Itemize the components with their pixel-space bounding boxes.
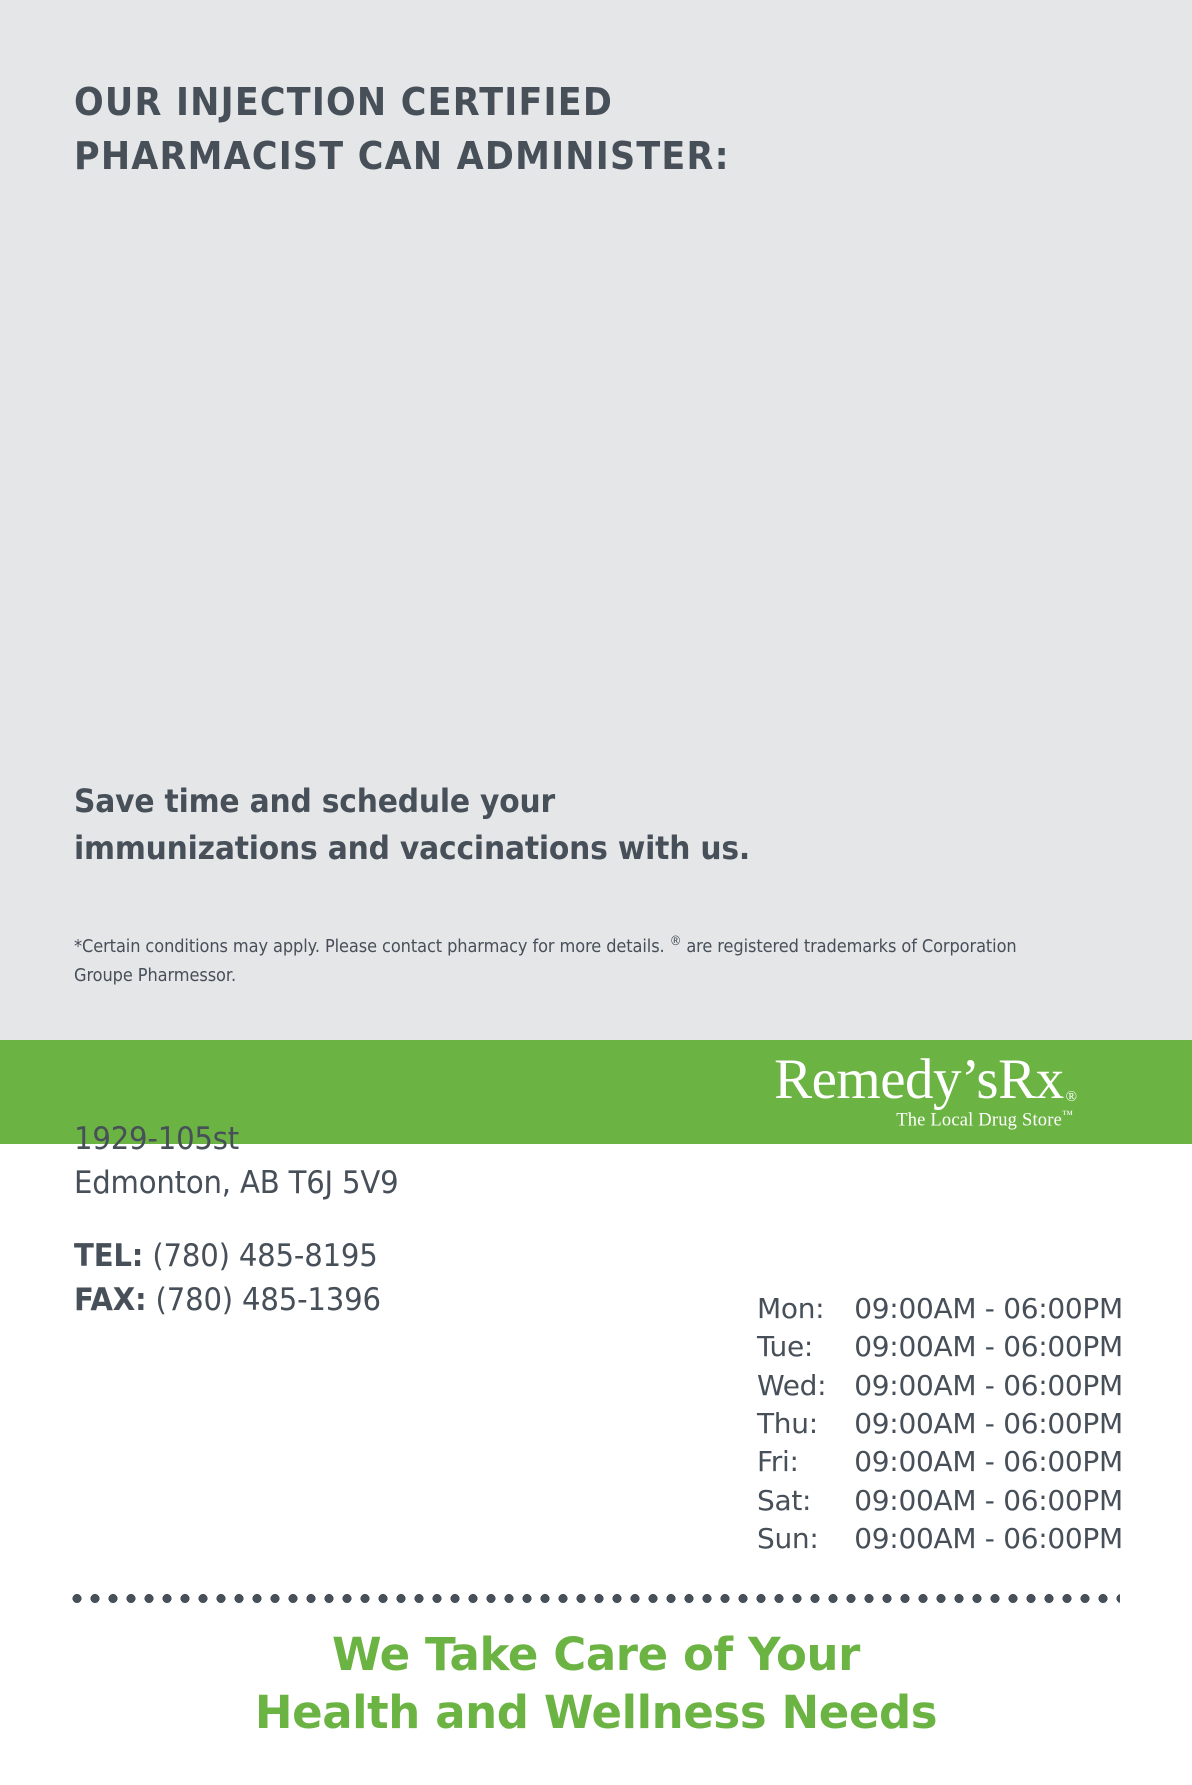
table-row: Fri: 09:00AM - 06:00PM bbox=[757, 1443, 1123, 1481]
store-telephone-value[interactable]: (780) 485-8195 bbox=[152, 1238, 377, 1274]
hours-day-label: Sat: bbox=[757, 1482, 854, 1520]
dotted-divider bbox=[68, 1594, 1120, 1603]
hours-time-value: 09:00AM - 06:00PM bbox=[854, 1367, 1123, 1405]
table-row: Wed: 09:00AM - 06:00PM bbox=[757, 1367, 1123, 1405]
brand-tagline-text: The Local Drug Store bbox=[896, 1110, 1062, 1130]
closing-tagline-line-1: We Take Care of Your bbox=[0, 1626, 1192, 1684]
brand-registered-icon: ® bbox=[1066, 1089, 1077, 1105]
registered-trademark-icon: ® bbox=[670, 934, 682, 949]
store-address-line-1: 1929-105st bbox=[74, 1117, 657, 1161]
store-fax-value: (780) 485-1396 bbox=[156, 1282, 381, 1318]
brand-tagline: The Local Drug Store™ bbox=[774, 1110, 1073, 1130]
hours-time-value: 09:00AM - 06:00PM bbox=[854, 1443, 1123, 1481]
store-address: 1929-105st Edmonton, AB T6J 5V9 bbox=[74, 1117, 657, 1205]
hours-day-label: Sun: bbox=[757, 1520, 854, 1558]
store-name: Bearspaw Family Pharmacy bbox=[74, 1070, 657, 1114]
brand-trademark-icon: ™ bbox=[1062, 1109, 1073, 1121]
hours-day-label: Fri: bbox=[757, 1443, 854, 1481]
table-row: Thu: 09:00AM - 06:00PM bbox=[757, 1405, 1123, 1443]
hours-time-value: 09:00AM - 06:00PM bbox=[854, 1482, 1123, 1520]
table-row: Sat: 09:00AM - 06:00PM bbox=[757, 1482, 1123, 1520]
store-address-line-2: Edmonton, AB T6J 5V9 bbox=[74, 1161, 657, 1205]
hours-day-label: Thu: bbox=[757, 1405, 854, 1443]
hours-time-value: 09:00AM - 06:00PM bbox=[854, 1405, 1123, 1443]
store-contact: TEL: (780) 485-8195 FAX: (780) 485-1396 bbox=[74, 1234, 657, 1322]
disclaimer-part-1: *Certain conditions may apply. Please co… bbox=[74, 936, 670, 957]
brand-wordmark: Remedy’sRx bbox=[774, 1051, 1064, 1108]
page-title-line-1: OUR INJECTION CERTIFIED bbox=[74, 76, 902, 130]
hours-day-label: Wed: bbox=[757, 1367, 854, 1405]
store-hours-body: Mon: 09:00AM - 06:00PM Tue: 09:00AM - 06… bbox=[757, 1290, 1123, 1559]
disclaimer-text: *Certain conditions may apply. Please co… bbox=[74, 932, 1028, 990]
hours-time-value: 09:00AM - 06:00PM bbox=[854, 1290, 1123, 1328]
subheading-line-1: Save time and schedule your bbox=[74, 778, 911, 825]
remedysrx-logo: Remedy’sRx® The Local Drug Store™ bbox=[774, 1051, 1075, 1130]
store-telephone-label: TEL: bbox=[74, 1238, 143, 1274]
hours-day-label: Tue: bbox=[757, 1328, 854, 1366]
store-hours-table: Mon: 09:00AM - 06:00PM Tue: 09:00AM - 06… bbox=[757, 1290, 1123, 1559]
table-row: Mon: 09:00AM - 06:00PM bbox=[757, 1290, 1123, 1328]
table-row: Sun: 09:00AM - 06:00PM bbox=[757, 1520, 1123, 1558]
subheading-line-2: immunizations and vaccinations with us. bbox=[74, 825, 911, 872]
hours-time-value: 09:00AM - 06:00PM bbox=[854, 1328, 1123, 1366]
closing-tagline-line-2: Health and Wellness Needs bbox=[0, 1684, 1192, 1742]
store-details: Bearspaw Family Pharmacy 1929-105st Edmo… bbox=[74, 1070, 694, 1322]
store-fax-label: FAX: bbox=[74, 1282, 146, 1318]
page-title: OUR INJECTION CERTIFIED PHARMACIST CAN A… bbox=[74, 76, 902, 184]
store-telephone-row: TEL: (780) 485-8195 bbox=[74, 1234, 657, 1278]
store-fax-row: FAX: (780) 485-1396 bbox=[74, 1278, 657, 1322]
subheading: Save time and schedule your immunization… bbox=[74, 778, 911, 873]
hours-time-value: 09:00AM - 06:00PM bbox=[854, 1520, 1123, 1558]
page-title-line-2: PHARMACIST CAN ADMINISTER: bbox=[74, 130, 902, 184]
table-row: Tue: 09:00AM - 06:00PM bbox=[757, 1328, 1123, 1366]
closing-tagline: We Take Care of Your Health and Wellness… bbox=[0, 1626, 1192, 1741]
hours-day-label: Mon: bbox=[757, 1290, 854, 1328]
hero-panel: OUR INJECTION CERTIFIED PHARMACIST CAN A… bbox=[0, 0, 1192, 1040]
